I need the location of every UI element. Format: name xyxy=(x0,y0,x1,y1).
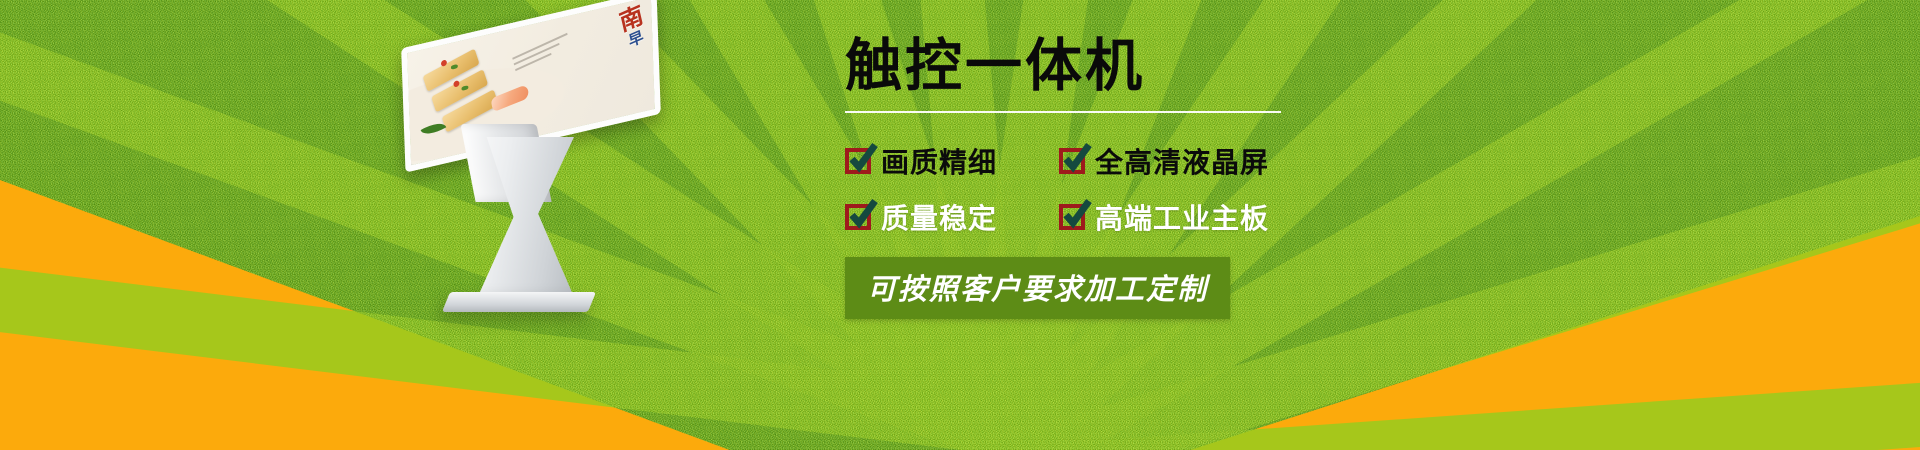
feature-label: 画质精细 xyxy=(881,141,997,181)
feature-item: 质量稳定 xyxy=(845,197,1059,237)
feature-list: 画质精细 全高清液晶屏 质量稳定 xyxy=(845,141,1565,237)
custom-order-banner: 可按照客户要求加工定制 xyxy=(845,257,1230,319)
feature-label: 质量稳定 xyxy=(881,197,997,237)
shrimp-icon xyxy=(490,84,529,112)
menu-text-lines xyxy=(512,33,571,75)
checkbox-checked-icon xyxy=(845,204,871,230)
checkbox-checked-icon xyxy=(1059,148,1085,174)
feature-label: 全高清液晶屏 xyxy=(1095,141,1269,181)
kiosk-base-plate xyxy=(442,292,596,312)
custom-order-text: 可按照客户要求加工定制 xyxy=(867,272,1208,306)
promo-banner: 南 早 触控一体机 画质精细 xyxy=(0,0,1920,450)
banner-content: 触控一体机 画质精细 全高清液晶屏 xyxy=(845,38,1565,319)
page-title: 触控一体机 xyxy=(845,38,1565,95)
touch-kiosk-product-image: 南 早 xyxy=(390,12,720,332)
checkbox-checked-icon xyxy=(845,148,871,174)
feature-item: 画质精细 xyxy=(845,141,1059,181)
checkbox-checked-icon xyxy=(1059,204,1085,230)
feature-label: 高端工业主板 xyxy=(1095,197,1269,237)
kiosk-screen-heading: 南 早 xyxy=(618,4,648,51)
feature-item: 全高清液晶屏 xyxy=(1059,141,1273,181)
feature-item: 高端工业主板 xyxy=(1059,197,1273,237)
title-divider xyxy=(845,111,1281,113)
